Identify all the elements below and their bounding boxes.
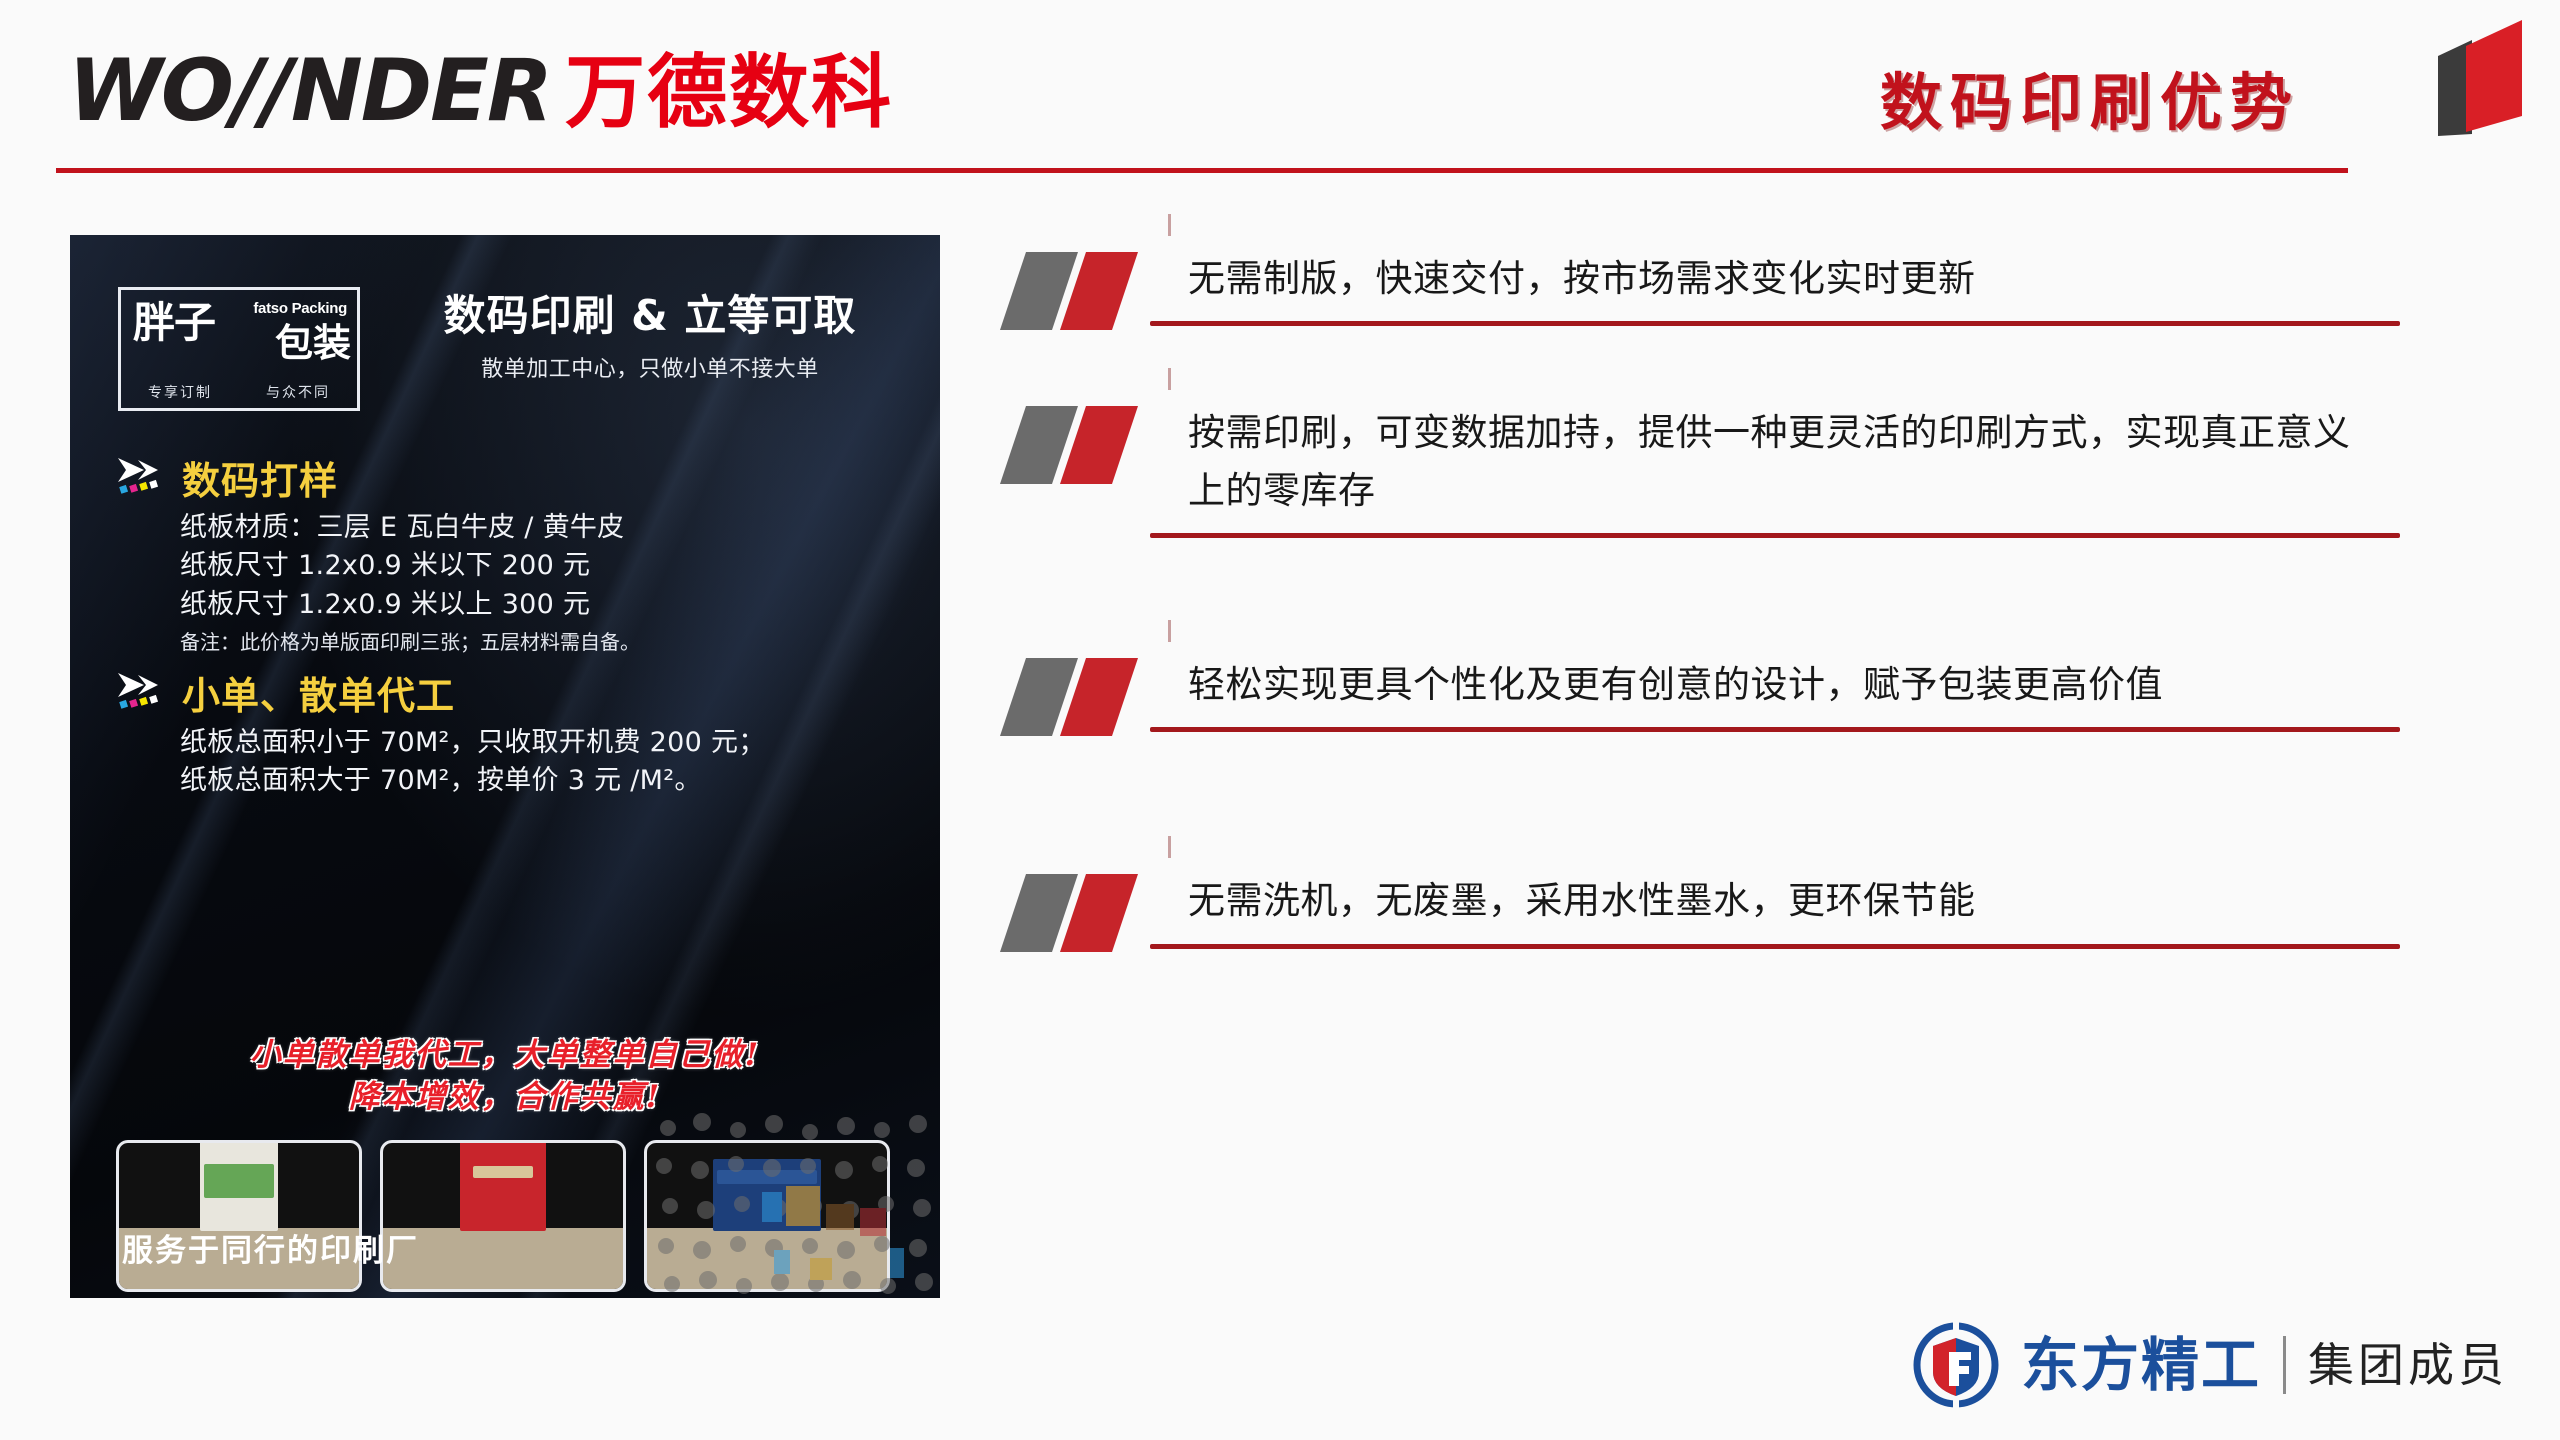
brand-logo: WO//NDER 万德数科: [68, 48, 893, 134]
wonder-text-2: NDER: [291, 48, 551, 134]
advantage-text: 无需制版，快速交付，按市场需求变化实时更新: [1188, 250, 2400, 321]
poster-slogan: 小单散单我代工，大单整单自己做! 降本增效，合作共赢!: [70, 1035, 940, 1119]
poster-section-1-note: 备注：此价格为单版面印刷三张；五层材料需自备。: [180, 627, 940, 657]
advantage-text: 轻松实现更具个性化及更有创意的设计，赋予包装更高价值: [1188, 656, 2400, 727]
footer-company-name: 东方精工: [2021, 1336, 2261, 1394]
double-slash-marker-icon: [1000, 250, 1170, 334]
advantage-underline: [1150, 321, 2400, 326]
fatso-tag-right: 与众不同: [266, 382, 330, 402]
advantage-text: 无需洗机，无废墨，采用水性墨水，更环保节能: [1188, 872, 2400, 943]
corner-bookmark-icon: [2432, 10, 2528, 140]
fatso-logo-cn: 胖子: [133, 302, 215, 344]
slide-root: WO//NDER 万德数科 数码印刷优势 胖子 fatso Packing 包装…: [0, 0, 2560, 1440]
poster-section-2-head: 小单、散单代工: [70, 665, 940, 720]
advantage-item: 无需制版，快速交付，按市场需求变化实时更新: [1000, 250, 2400, 326]
tick-mark: [1168, 620, 1171, 642]
poster-footer-text: 服务于同行的印刷厂: [122, 1225, 419, 1270]
advantage-underline: [1150, 533, 2400, 538]
double-slash-marker-icon: [1000, 872, 1170, 956]
wonder-slash-red: /: [261, 48, 290, 134]
poster-section-1-line-1: 纸板材质：三层 E 瓦白牛皮 / 黄牛皮: [180, 509, 940, 547]
advantage-item: 轻松实现更具个性化及更有创意的设计，赋予包装更高价值: [1000, 656, 2400, 732]
poster-section-2: 小单、散单代工 纸板总面积小于 70M²，只收取开机费 200 元； 纸板总面积…: [70, 665, 940, 801]
chevron-arrow-icon: [114, 456, 168, 500]
footer-divider: [2283, 1336, 2286, 1394]
double-slash-marker-icon: [1000, 656, 1170, 740]
poster-section-2-line-1: 纸板总面积小于 70M²，只收取开机费 200 元；: [180, 724, 940, 762]
page-title: 数码印刷优势: [1880, 52, 2300, 142]
wonder-wordmark: WO//NDER: [68, 48, 551, 134]
tick-mark: [1168, 214, 1171, 236]
poster-section-1-head: 数码打样: [70, 450, 940, 505]
poster-section-2-body: 纸板总面积小于 70M²，只收取开机费 200 元； 纸板总面积大于 70M²，…: [70, 724, 940, 801]
poster-section-1-body: 纸板材质：三层 E 瓦白牛皮 / 黄牛皮 纸板尺寸 1.2x0.9 米以下 20…: [70, 509, 940, 657]
fatso-logo-cn2: 包装: [275, 324, 351, 362]
fatso-logo-taglines: 专享订制 与众不同: [121, 382, 357, 402]
advantage-underline: [1150, 727, 2400, 732]
tick-mark: [1168, 368, 1171, 390]
dongfang-jinggong-logo-icon: [1913, 1322, 1999, 1408]
poster-section-1-line-3: 纸板尺寸 1.2x0.9 米以上 300 元: [180, 586, 940, 624]
fatso-logo: 胖子 fatso Packing 包装 专享订制 与众不同: [118, 287, 360, 411]
advantage-text: 按需印刷，可变数据加持，提供一种更灵活的印刷方式，实现真正意义上的零库存: [1188, 404, 2400, 533]
poster-headline: 数码印刷 & 立等可取: [400, 291, 900, 341]
poster-section-2-title: 小单、散单代工: [182, 665, 455, 720]
brand-chinese-name: 万德数科: [565, 53, 893, 133]
poster-section-1-line-2: 纸板尺寸 1.2x0.9 米以下 200 元: [180, 547, 940, 585]
promo-poster: 胖子 fatso Packing 包装 专享订制 与众不同 数码印刷 & 立等可…: [70, 235, 940, 1298]
advantages-list: 无需制版，快速交付，按市场需求变化实时更新 按需印刷，可变数据加持，提供一种更灵…: [1000, 250, 2400, 965]
poster-subheadline: 散单加工中心，只做小单不接大单: [400, 351, 900, 383]
poster-slogan-line-1: 小单散单我代工，大单整单自己做!: [70, 1035, 940, 1077]
footer-brand: 东方精工 集团成员: [1913, 1322, 2508, 1408]
wonder-text-1: WO: [68, 48, 232, 134]
wonder-slash-green: /: [232, 48, 261, 134]
chevron-arrow-icon: [114, 671, 168, 715]
poster-headline-block: 数码印刷 & 立等可取 散单加工中心，只做小单不接大单: [400, 291, 900, 383]
advantage-item: 按需印刷，可变数据加持，提供一种更灵活的印刷方式，实现真正意义上的零库存: [1000, 404, 2400, 538]
tick-mark: [1168, 836, 1171, 858]
poster-section-1-title: 数码打样: [182, 450, 338, 505]
double-slash-marker-icon: [1000, 404, 1170, 488]
fatso-logo-en: fatso Packing: [253, 300, 347, 317]
dot-pattern-decoration: [650, 1108, 940, 1298]
advantage-underline: [1150, 944, 2400, 949]
advantage-item: 无需洗机，无废墨，采用水性墨水，更环保节能: [1000, 872, 2400, 948]
header-divider: [56, 168, 2348, 173]
poster-section-1: 数码打样 纸板材质：三层 E 瓦白牛皮 / 黄牛皮 纸板尺寸 1.2x0.9 米…: [70, 450, 940, 657]
footer-member-label: 集团成员: [2308, 1342, 2508, 1388]
fatso-tag-left: 专享订制: [148, 382, 212, 402]
poster-section-2-line-2: 纸板总面积大于 70M²，按单价 3 元 /M²。: [180, 762, 940, 800]
